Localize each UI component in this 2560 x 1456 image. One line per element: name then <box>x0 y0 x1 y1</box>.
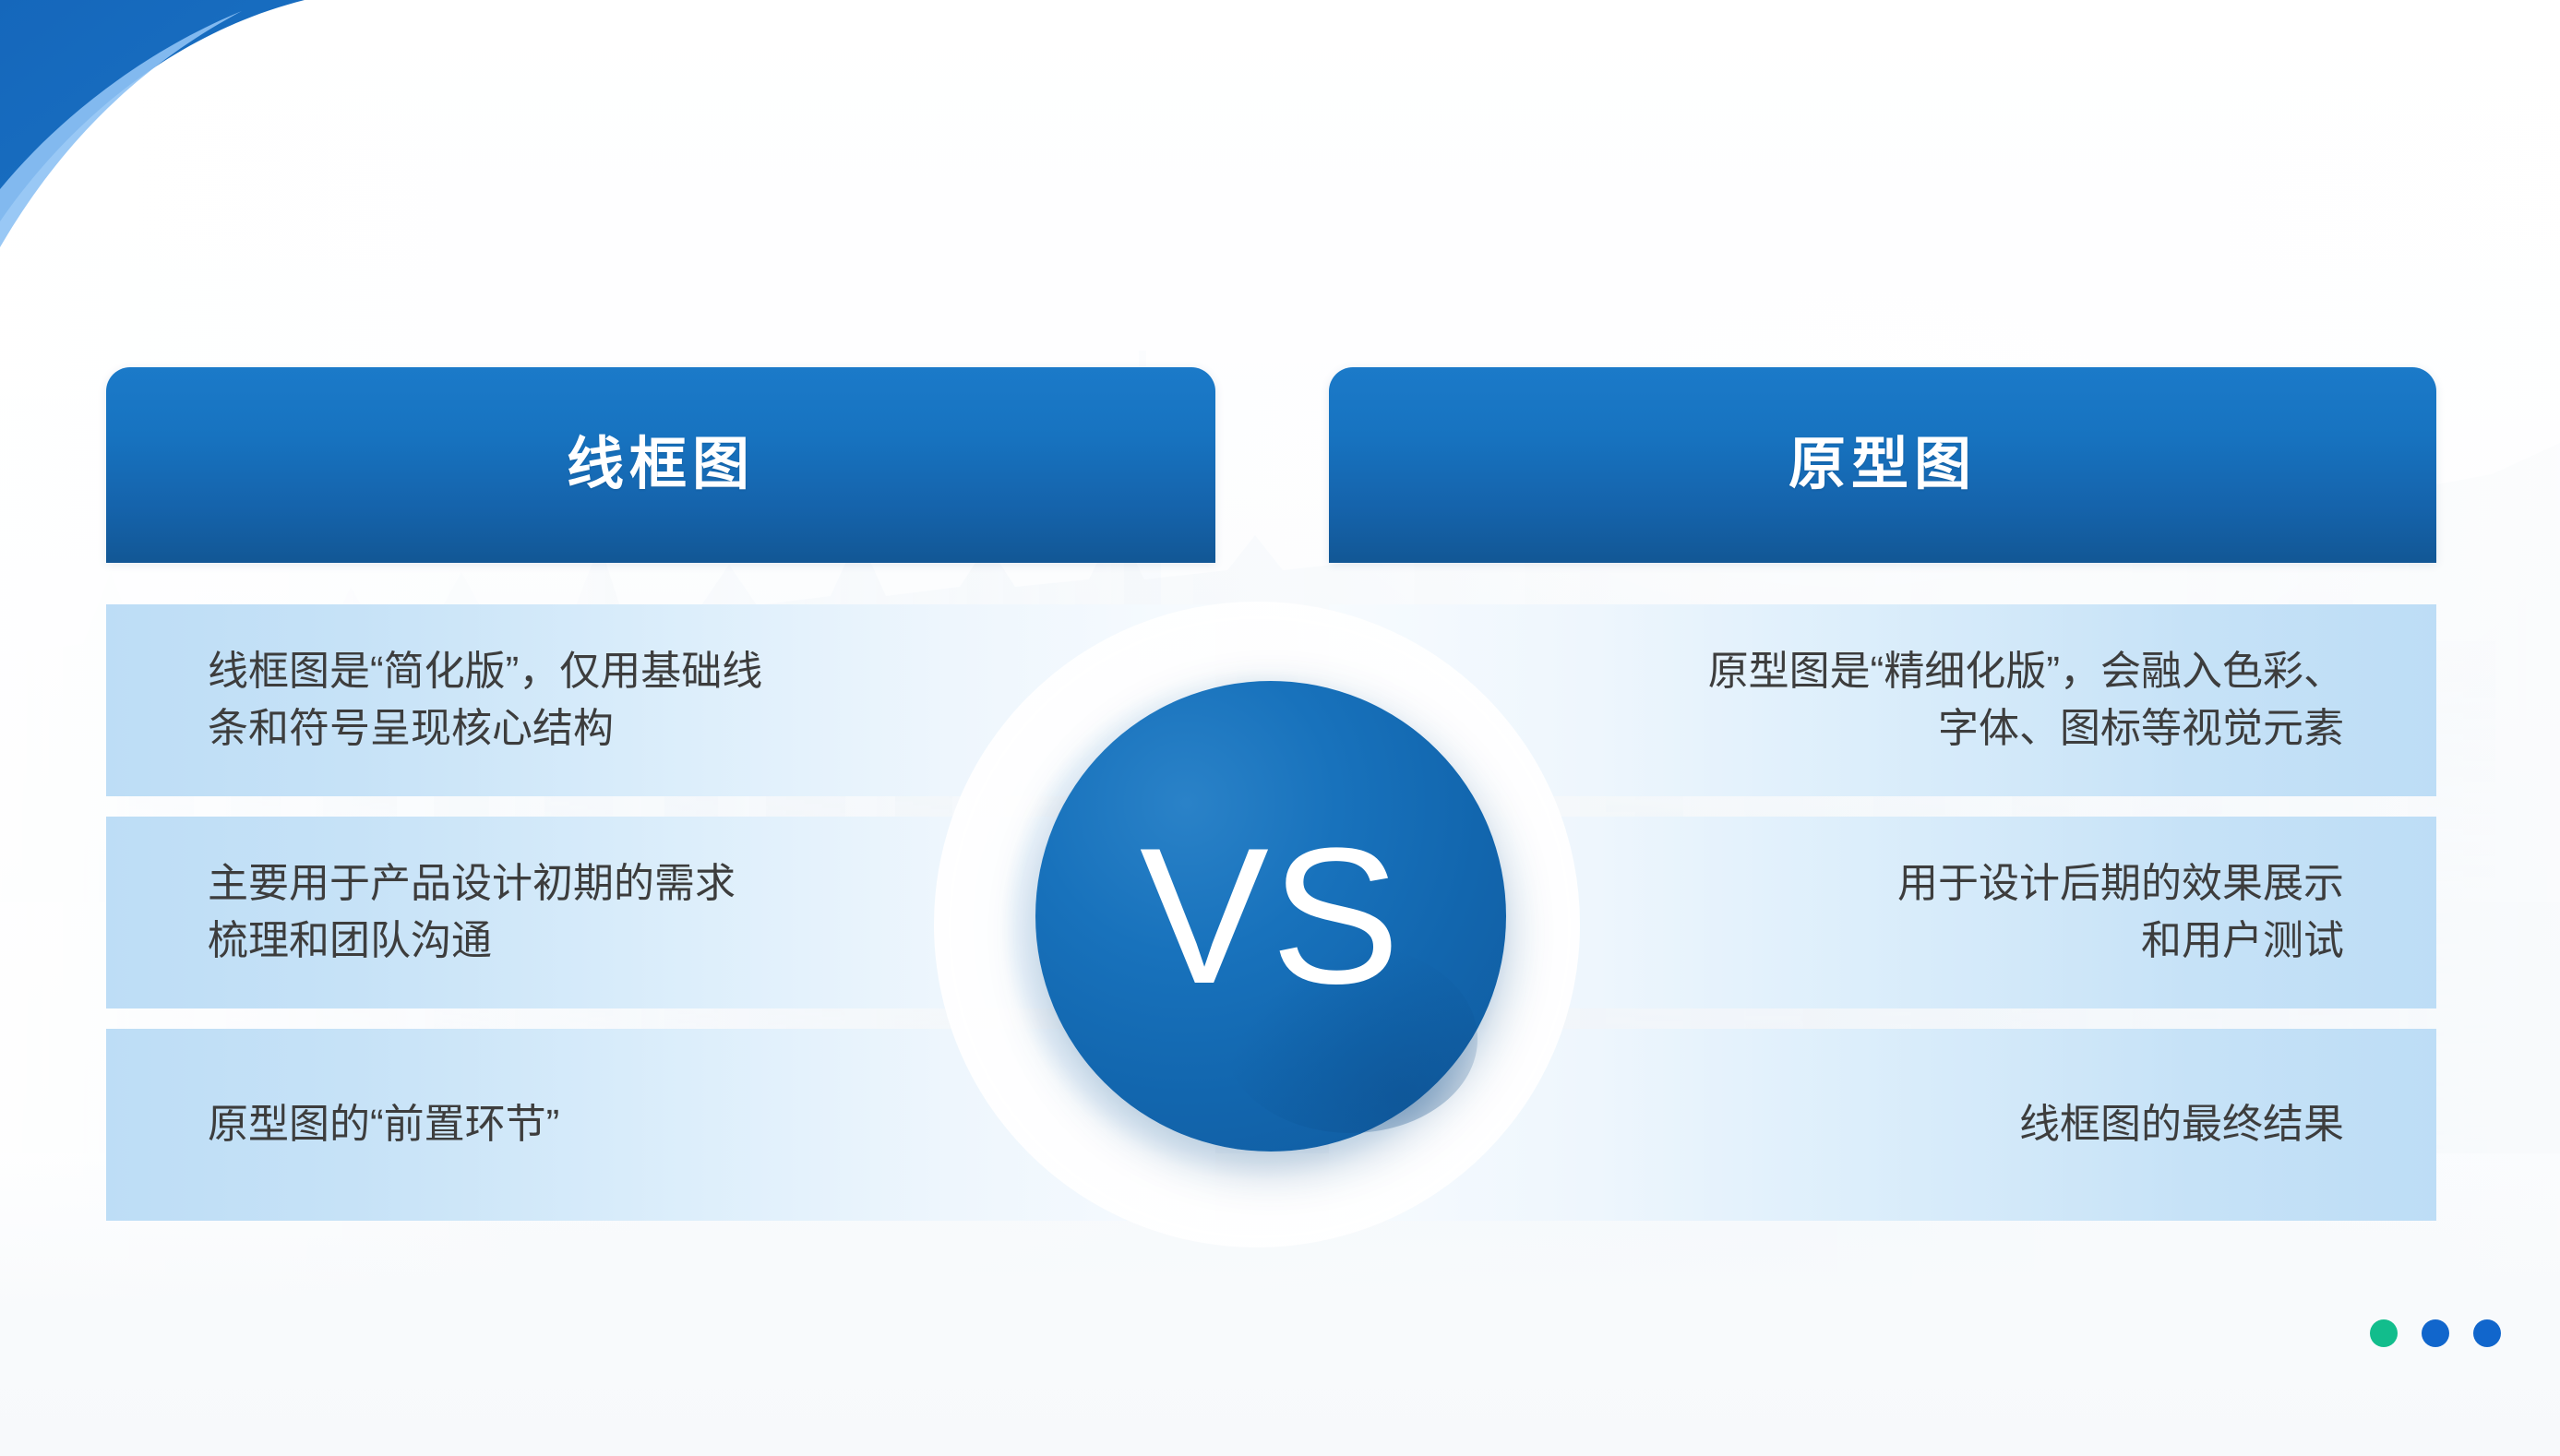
column-title-wireframe: 线框图 <box>567 436 755 494</box>
footer-dots <box>2370 1319 2501 1347</box>
vs-label: VS <box>1140 819 1402 1013</box>
row-band-wireframe-3: 原型图的“前置环节” <box>106 1029 1215 1221</box>
column-title-prototype: 原型图 <box>1788 436 1977 494</box>
dot-blue-1-icon <box>2422 1319 2449 1347</box>
row-band-prototype-3: 线框图的最终结果 <box>1329 1029 2436 1221</box>
row-text-wireframe-2: 主要用于产品设计初期的需求 梳理和团队沟通 <box>208 855 736 971</box>
row-band-wireframe-1: 线框图是“简化版”，仅用基础线 条和符号呈现核心结构 <box>106 604 1215 796</box>
row-text-prototype-2: 用于设计后期的效果展示 和用户测试 <box>1897 855 2344 971</box>
column-header-wireframe: 线框图 <box>106 367 1215 563</box>
row-text-prototype-1: 原型图是“精细化版”，会融入色彩、 字体、图标等视觉元素 <box>1708 643 2344 758</box>
row-text-prototype-3: 线框图的最终结果 <box>2019 1096 2344 1153</box>
dot-blue-2-icon <box>2473 1319 2501 1347</box>
row-band-prototype-1: 原型图是“精细化版”，会融入色彩、 字体、图标等视觉元素 <box>1329 604 2436 796</box>
corner-swoosh-decoration <box>0 0 572 304</box>
vs-badge: VS <box>1035 681 1506 1152</box>
dot-green-icon <box>2370 1319 2398 1347</box>
slide-canvas: 线框图 原型图 线框图是“简化版”，仅用基础线 条和符号呈现核心结构 主要用于产… <box>0 0 2560 1456</box>
row-text-wireframe-1: 线框图是“简化版”，仅用基础线 条和符号呈现核心结构 <box>208 643 762 758</box>
row-text-wireframe-3: 原型图的“前置环节” <box>208 1096 559 1153</box>
column-header-prototype: 原型图 <box>1329 367 2436 563</box>
